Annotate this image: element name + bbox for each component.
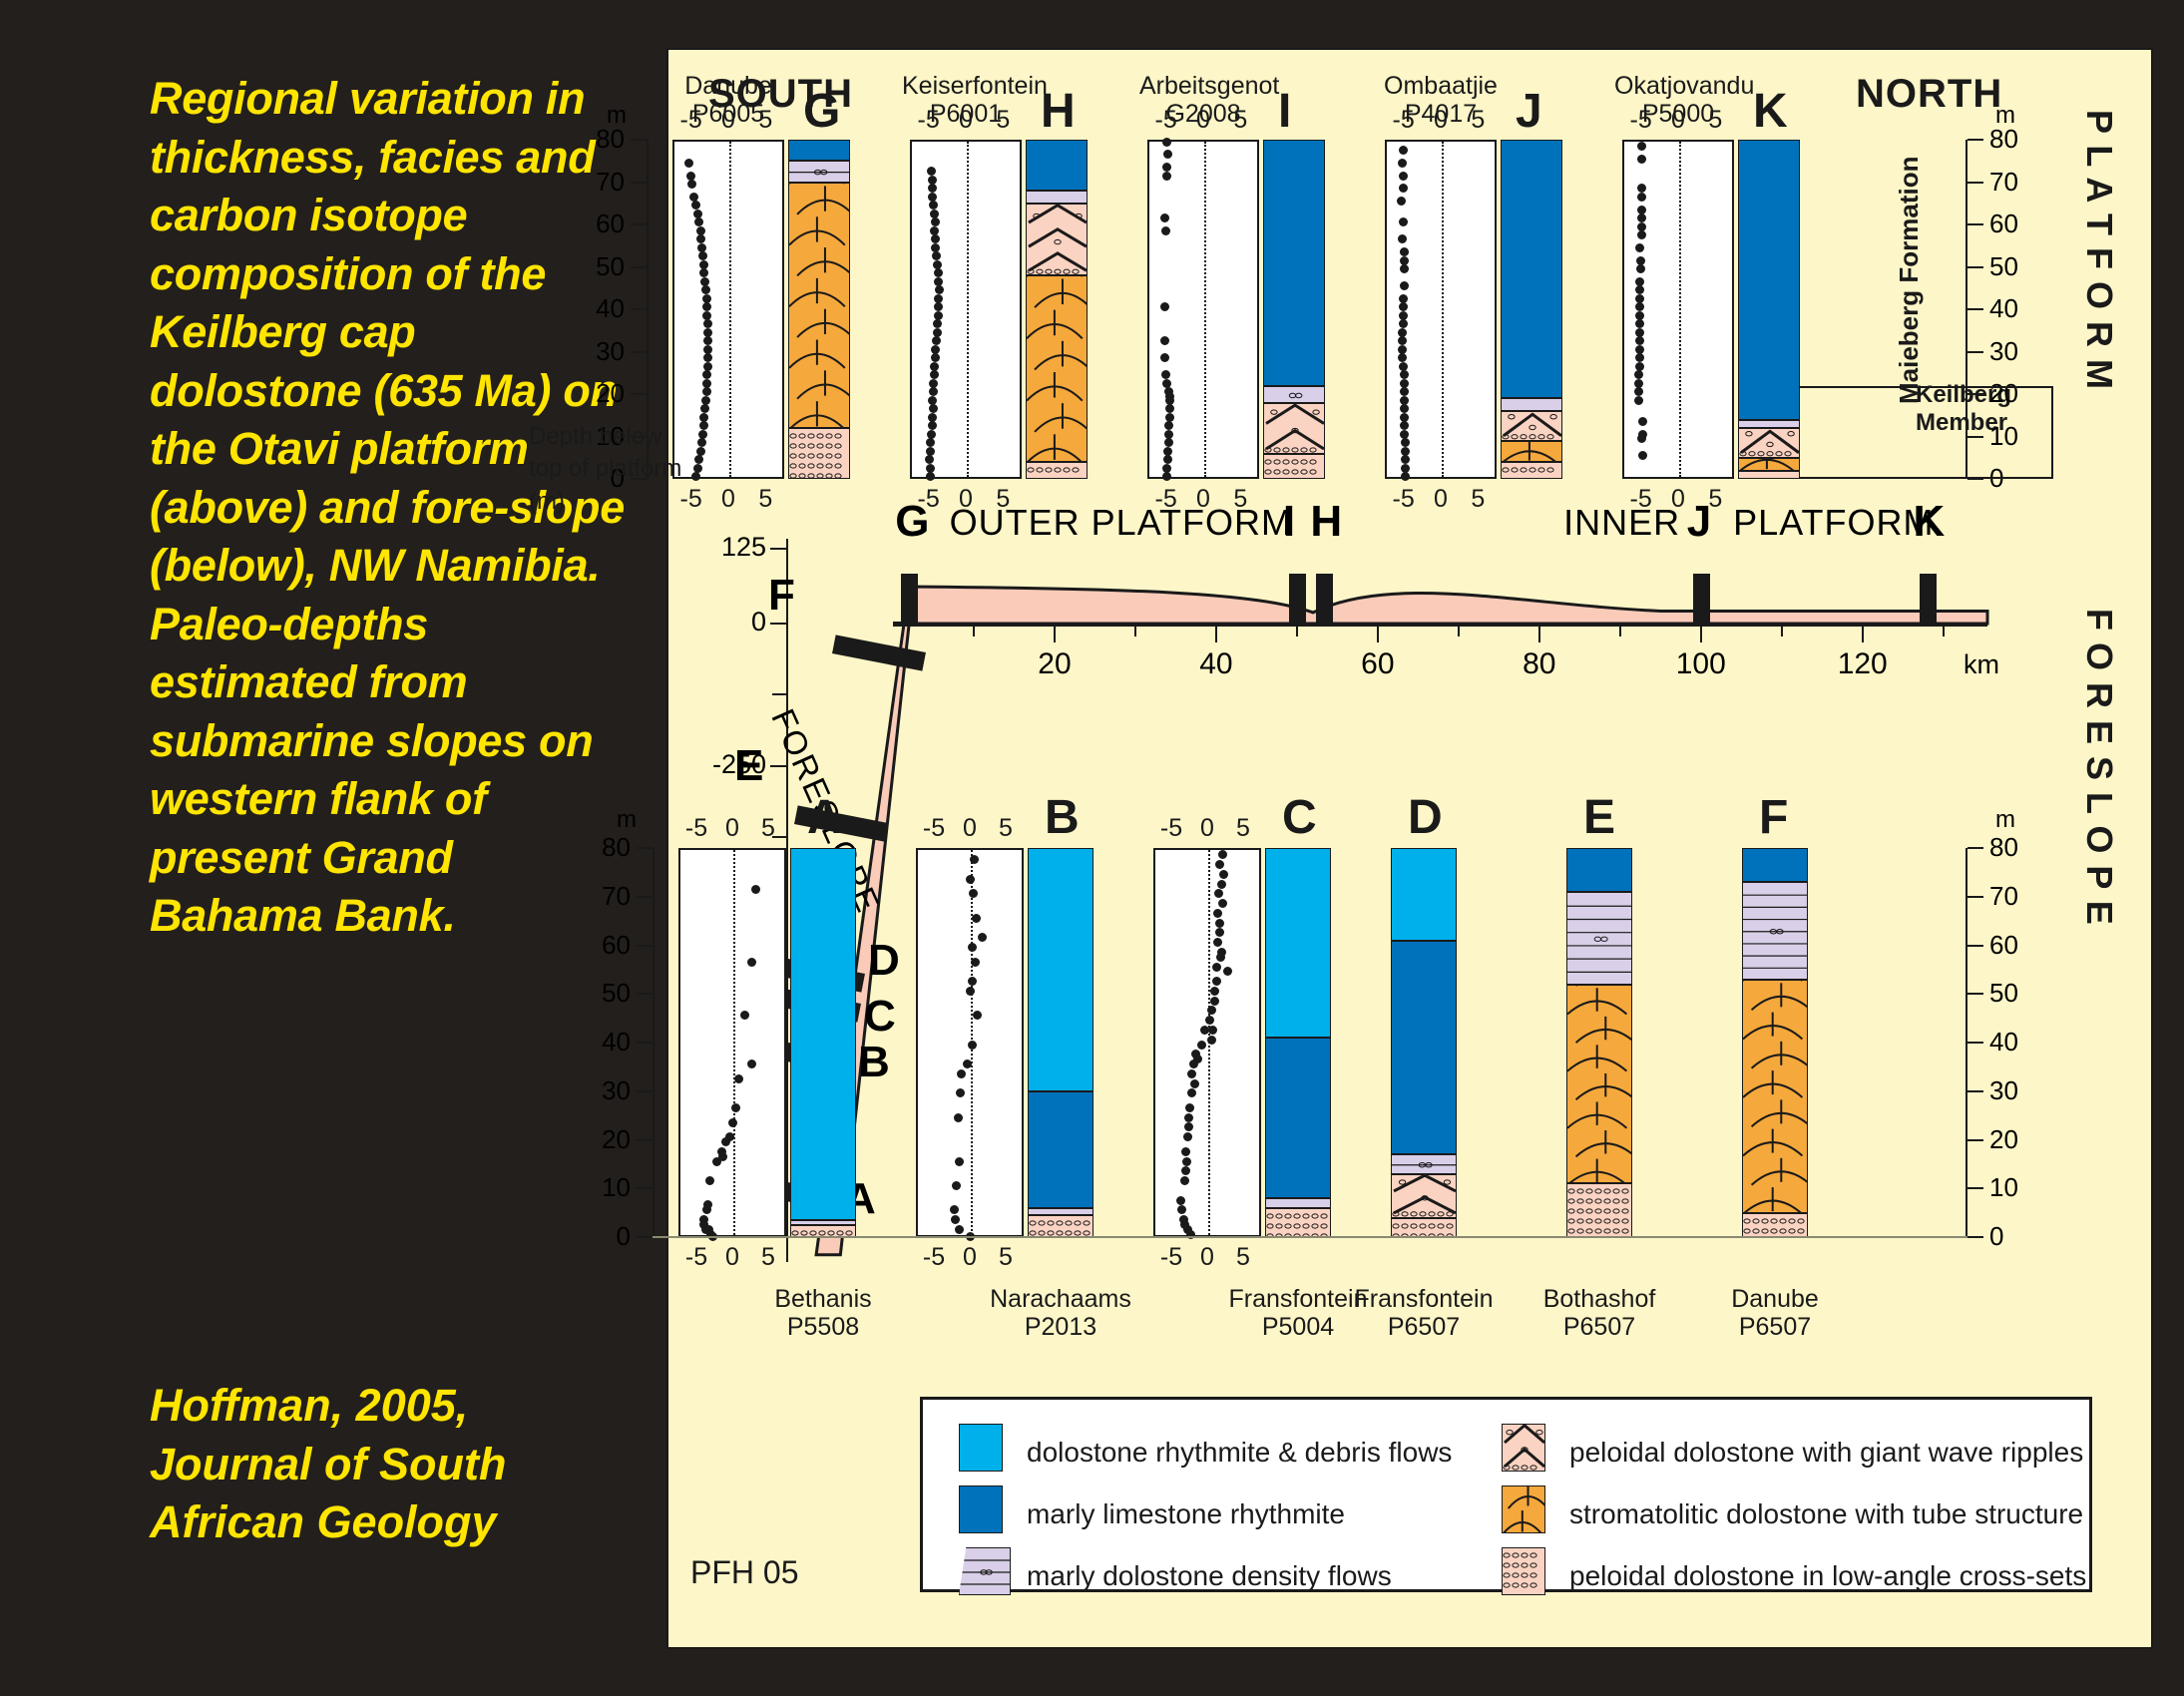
- y-tick-left: [631, 308, 647, 310]
- data-point: [1165, 404, 1174, 413]
- litho-unit-blue: [1391, 941, 1457, 1155]
- facies-pattern-lilac: [789, 162, 850, 182]
- data-point: [1635, 243, 1644, 252]
- data-point: [705, 1176, 714, 1185]
- data-point: [1215, 919, 1224, 928]
- data-point: [1217, 880, 1226, 889]
- data-point: [1399, 172, 1408, 181]
- data-point: [1638, 451, 1647, 460]
- data-point: [928, 184, 937, 193]
- zero-line: [1204, 142, 1206, 477]
- data-point: [934, 302, 943, 311]
- y-tick-left: [631, 351, 647, 353]
- compass-north-label: NORTH: [1856, 72, 2002, 117]
- data-point: [1197, 1041, 1206, 1050]
- litho-unit-lilac: [1026, 191, 1088, 204]
- data-point: [1399, 217, 1408, 226]
- section-letter-I: I: [1278, 84, 1291, 139]
- data-point: [955, 1157, 964, 1166]
- facies-pattern-chev: [1027, 205, 1088, 275]
- data-point: [1400, 421, 1409, 430]
- data-point: [703, 336, 712, 345]
- data-point: [691, 472, 700, 481]
- member-bracket-top: [1800, 386, 2053, 388]
- x-tick-top-5: 5: [1231, 814, 1255, 843]
- data-point: [931, 217, 940, 226]
- data-point: [700, 404, 709, 413]
- x-tick-top-5: 5: [1466, 106, 1490, 135]
- data-point: [684, 159, 693, 168]
- data-point: [1398, 159, 1407, 168]
- data-point: [1208, 1026, 1217, 1035]
- x-tick-bottom-5: 5: [1466, 485, 1490, 514]
- y-tick-left-bottom: [637, 1090, 653, 1092]
- figure-panel: SOUTH NORTH P L A T F O R M F O R E S L …: [666, 48, 2153, 1649]
- litho-unit-lilac: [1738, 420, 1800, 429]
- y-tick-label-bottom-70: 70: [587, 881, 631, 912]
- profile-site-letter-G: G: [895, 497, 929, 547]
- y-tick-label-bottom-10: 10: [587, 1172, 631, 1203]
- y-tick-label-bottom-30: 30: [587, 1075, 631, 1106]
- y-tick-right: [1967, 393, 1983, 395]
- isotope-plot-I: [1147, 140, 1259, 479]
- data-point: [1205, 1016, 1214, 1025]
- facies-pattern-strom: [1743, 981, 1808, 1213]
- data-point: [966, 987, 975, 996]
- data-point: [1213, 938, 1222, 947]
- y-tick-right-bottom: [1967, 1090, 1983, 1092]
- x-tick-bottom-5: 5: [994, 1243, 1018, 1272]
- data-point: [712, 1157, 721, 1166]
- data-point: [1207, 1006, 1216, 1015]
- y-tick-label-right-70: 70: [1989, 167, 2033, 198]
- x-tick-top-0: 0: [1666, 106, 1690, 135]
- data-point: [1400, 370, 1409, 379]
- litho-unit-blue: [788, 140, 850, 161]
- legend-swatch-marly-dolostone-density-flows: [959, 1547, 1011, 1595]
- y-tick-right-bottom: [1967, 993, 1983, 995]
- x-tick-top-0: 0: [716, 106, 740, 135]
- y-tick-right-bottom: [1967, 847, 1983, 849]
- data-point: [1213, 909, 1222, 918]
- isotope-plot-C: [1153, 848, 1261, 1237]
- section-letter-E: E: [1583, 790, 1615, 845]
- metre-unit-right-bottom: m: [1995, 806, 2015, 834]
- y-tick-label-20: 20: [581, 378, 625, 409]
- data-point: [696, 234, 705, 243]
- facies-pattern-pel: [1264, 455, 1325, 480]
- litho-unit-lilac: [1391, 1154, 1457, 1174]
- data-point: [952, 1181, 961, 1190]
- maieberg-formation-label: Maieberg Formation: [1894, 105, 1925, 404]
- y-tick-left-bottom: [637, 1042, 653, 1044]
- data-point: [1177, 1205, 1186, 1214]
- facies-pattern-chev: [1502, 412, 1562, 441]
- data-point: [747, 958, 756, 967]
- facies-pattern-lilac: [1502, 399, 1562, 411]
- y-tick-left-bottom: [637, 896, 653, 898]
- data-point: [973, 1011, 982, 1020]
- y-tick-left: [631, 223, 647, 225]
- data-point: [1399, 184, 1408, 193]
- x-tick-top-5: 5: [991, 106, 1015, 135]
- zero-line: [729, 142, 731, 477]
- facies-pattern-lilac: [1743, 883, 1808, 980]
- data-point: [731, 1103, 740, 1112]
- x-tick-top--5: -5: [679, 106, 703, 135]
- section-id: P6507: [1563, 1313, 1635, 1341]
- litho-unit-pel: [1742, 1213, 1808, 1237]
- data-point: [1637, 155, 1646, 164]
- y-tick-label-bottom-0: 0: [587, 1221, 631, 1252]
- data-point: [955, 1225, 964, 1234]
- data-point: [1218, 899, 1227, 908]
- legend-swatch-marly-limestone-rhythmite: [959, 1485, 1003, 1533]
- section-name-bottom-F: DanubeP6507: [1668, 1285, 1882, 1341]
- x-tick-bottom--5: -5: [922, 1243, 946, 1272]
- data-point: [933, 319, 942, 328]
- y-tick-right-bottom: [1967, 1139, 1983, 1141]
- data-point: [951, 1215, 960, 1224]
- x-tick-bottom--5: -5: [679, 485, 703, 514]
- x-tick-top-0: 0: [1195, 814, 1219, 843]
- x-tick-bottom-0: 0: [958, 1243, 982, 1272]
- litho-unit-chev: [1263, 403, 1325, 454]
- data-point: [966, 875, 975, 884]
- section-id: P5508: [787, 1313, 859, 1341]
- litho-unit-cyan: [1391, 848, 1457, 941]
- data-point: [968, 943, 977, 952]
- zero-line: [733, 850, 735, 1235]
- data-point: [1635, 336, 1644, 345]
- data-point: [1162, 172, 1171, 181]
- y-tick-label-60: 60: [581, 209, 625, 239]
- x-tick-top-0: 0: [720, 814, 744, 843]
- x-tick-bottom-5: 5: [753, 485, 777, 514]
- litho-unit-blue: [1265, 1038, 1331, 1198]
- litho-unit-pel: [1501, 462, 1562, 479]
- data-point: [728, 1118, 737, 1127]
- x-tick-bottom-0: 0: [716, 485, 740, 514]
- facies-pattern-pel: [789, 429, 850, 479]
- y-tick-label-right-bottom-80: 80: [1989, 832, 2033, 863]
- isotope-plot-B: [916, 848, 1024, 1237]
- data-point: [1176, 1196, 1185, 1205]
- platform-label: P L A T F O R M: [2078, 110, 2120, 449]
- facies-pattern-pel: [1392, 1219, 1457, 1238]
- data-point: [1635, 285, 1644, 294]
- section-letter-H: H: [1041, 84, 1076, 139]
- zero-line: [1442, 142, 1444, 477]
- y-tick-label-right-bottom-30: 30: [1989, 1075, 2033, 1106]
- y-axis-left-bottom: [653, 848, 655, 1237]
- section-locality: Keiserfontein: [902, 72, 1048, 100]
- data-point: [702, 387, 711, 396]
- data-point: [1212, 977, 1221, 986]
- legend-label-dolostone-rhythmite: dolostone rhythmite & debris flows: [1027, 1437, 1452, 1469]
- facies-pattern-lilac: [1266, 1199, 1331, 1208]
- profile-site-bar-H: [1316, 574, 1333, 627]
- y-tick-label-right-bottom-10: 10: [1989, 1172, 2033, 1203]
- litho-unit-lilac: [1501, 398, 1562, 411]
- litho-unit-strom: [1738, 458, 1800, 471]
- x-tick-bottom--5: -5: [1159, 1243, 1183, 1272]
- data-point: [1160, 353, 1169, 362]
- plate-id-label: PFH 05: [690, 1554, 798, 1591]
- data-point: [734, 1074, 743, 1083]
- x-tick-top-5: 5: [994, 814, 1018, 843]
- litho-unit-strom: [788, 183, 850, 429]
- litho-unit-cyan: [1028, 848, 1093, 1091]
- data-point: [702, 370, 711, 379]
- data-point: [1400, 387, 1409, 396]
- litho-unit-lilac: [1263, 386, 1325, 403]
- y-tick-left: [631, 139, 647, 141]
- facies-pattern-strom: [789, 184, 850, 429]
- data-point: [1637, 184, 1646, 193]
- data-point: [1400, 404, 1409, 413]
- data-point: [1637, 434, 1646, 443]
- x-tick-top-5: 5: [756, 814, 780, 843]
- profile-site-letter-I: I: [1283, 497, 1295, 547]
- x-tick-top-0: 0: [1429, 106, 1453, 135]
- facies-pattern-strom: [1503, 1486, 1545, 1533]
- data-point: [956, 1088, 965, 1097]
- data-point: [1398, 234, 1407, 243]
- x-tick-top-0: 0: [958, 814, 982, 843]
- section-letter-G: G: [803, 84, 840, 139]
- data-point: [1184, 1113, 1193, 1122]
- data-point: [1638, 417, 1647, 426]
- data-point: [978, 933, 987, 942]
- y-tick-right: [1967, 266, 1983, 268]
- data-point: [1219, 870, 1228, 879]
- y-tick-left-bottom: [637, 1139, 653, 1141]
- data-point: [1634, 387, 1643, 396]
- y-tick-right-bottom: [1967, 945, 1983, 947]
- data-point: [1399, 302, 1408, 311]
- data-point: [972, 914, 981, 923]
- section-letter-A: A: [807, 790, 842, 845]
- x-tick-bottom-0: 0: [1195, 1243, 1219, 1272]
- data-point: [1182, 1157, 1191, 1166]
- data-point: [1210, 987, 1219, 996]
- x-tick-bottom-5: 5: [756, 1243, 780, 1272]
- section-locality: Bothashof: [1543, 1285, 1656, 1313]
- litho-unit-pel: [1391, 1218, 1457, 1238]
- y-tick-label-bottom-40: 40: [587, 1027, 631, 1058]
- x-tick-bottom--5: -5: [1392, 485, 1416, 514]
- section-id: P2013: [1025, 1313, 1096, 1341]
- section-locality: Okatjovandu: [1614, 72, 1754, 100]
- member-bracket-side: [2051, 386, 2053, 480]
- data-point: [931, 234, 940, 243]
- y-tick-left: [631, 182, 647, 184]
- legend-swatch-stromatolitic-tube-structure: [1502, 1485, 1545, 1533]
- facies-pattern-pel: [1739, 472, 1800, 480]
- data-point: [1184, 1122, 1193, 1131]
- data-point: [926, 438, 935, 447]
- data-point: [751, 885, 760, 894]
- facies-pattern-strom: [1027, 276, 1088, 462]
- data-point: [701, 285, 710, 294]
- y-tick-label-right-10: 10: [1989, 421, 2033, 452]
- legend-label-peloidal-low-angle-cross-sets: peloidal dolostone in low-angle cross-se…: [1569, 1560, 2086, 1592]
- litho-unit-strom: [1566, 985, 1632, 1184]
- y-tick-label-right-bottom-60: 60: [1989, 930, 2033, 961]
- litho-unit-pel: [1738, 471, 1800, 480]
- profile-site-letter-J: J: [1687, 497, 1711, 547]
- section-letter-K: K: [1753, 84, 1788, 139]
- section-id: P6507: [1388, 1313, 1460, 1341]
- y-tick-right-bottom: [1967, 1236, 1983, 1238]
- y-tick-right: [1967, 223, 1983, 225]
- y-tick-label-80: 80: [581, 124, 625, 155]
- data-point: [928, 421, 937, 430]
- facies-pattern-chev: [1503, 1425, 1545, 1472]
- facies-legend: dolostone rhythmite & debris flowsmarly …: [920, 1397, 2092, 1592]
- data-point: [1160, 336, 1169, 345]
- section-letter-F: F: [1759, 790, 1788, 845]
- data-point: [968, 1041, 977, 1050]
- section-locality: Danube: [1731, 1285, 1819, 1313]
- foreslope-label-right: F O R E S L O P E: [2078, 609, 2120, 1008]
- facies-pattern-pel: [1743, 1214, 1808, 1237]
- facies-pattern-chev: [1739, 429, 1800, 458]
- litho-unit-blue: [1026, 140, 1088, 191]
- data-point: [1215, 860, 1224, 869]
- data-point: [687, 180, 696, 189]
- data-point: [929, 201, 938, 210]
- data-point: [1212, 963, 1221, 972]
- litho-unit-lilac: [788, 161, 850, 182]
- facies-pattern-chev: [1392, 1175, 1457, 1218]
- data-point: [1637, 193, 1646, 202]
- facies-pattern-pel: [1029, 1216, 1093, 1237]
- x-tick-bottom-0: 0: [720, 1243, 744, 1272]
- litho-unit-lilac: [1028, 1208, 1093, 1215]
- section-id: P6507: [1739, 1313, 1811, 1341]
- data-point: [971, 958, 980, 967]
- data-point: [969, 889, 978, 898]
- litho-unit-pel: [1265, 1208, 1331, 1237]
- data-point: [697, 438, 706, 447]
- y-tick-left-bottom: [637, 847, 653, 849]
- litho-unit-blue: [1738, 140, 1800, 420]
- y-tick-label-right-bottom-70: 70: [1989, 881, 2033, 912]
- data-point: [1636, 264, 1645, 273]
- y-tick-label-50: 50: [581, 251, 625, 282]
- x-tick-top--5: -5: [1629, 106, 1653, 135]
- data-point: [1218, 850, 1227, 859]
- data-point: [929, 387, 938, 396]
- data-point: [1187, 1088, 1196, 1097]
- data-point: [925, 455, 934, 464]
- y-tick-label-right-60: 60: [1989, 209, 2033, 239]
- isotope-plot-A: [678, 848, 786, 1237]
- y-tick-left: [631, 393, 647, 395]
- y-tick-label-right-30: 30: [1989, 336, 2033, 367]
- litho-unit-pel: [1028, 1215, 1093, 1237]
- data-point: [694, 217, 703, 226]
- y-tick-left: [631, 266, 647, 268]
- facies-pattern-pel: [1027, 463, 1088, 479]
- x-tick-top-5: 5: [1703, 106, 1727, 135]
- isotope-plot-J: [1385, 140, 1497, 479]
- y-tick-label-right-bottom-0: 0: [1989, 1221, 2033, 1252]
- y-tick-right-bottom: [1967, 1042, 1983, 1044]
- data-point: [698, 251, 707, 260]
- section-locality: Danube: [684, 72, 772, 100]
- data-point: [699, 268, 708, 277]
- profile-site-letter-H: H: [1310, 497, 1342, 547]
- litho-unit-blue: [1028, 1091, 1093, 1208]
- y-tick-label-bottom-60: 60: [587, 930, 631, 961]
- x-tick-top-5: 5: [753, 106, 777, 135]
- data-point: [1400, 264, 1409, 273]
- profile-site-bar-J: [1693, 574, 1710, 627]
- data-point: [1207, 1036, 1216, 1045]
- data-point: [1161, 226, 1170, 235]
- section-name-bottom-A: BethanisP5508: [716, 1285, 930, 1341]
- litho-unit-pel: [1026, 462, 1088, 479]
- litho-unit-chev: [1501, 411, 1562, 441]
- legend-label-marly-limestone-rhythmite: marly limestone rhythmite: [1027, 1498, 1345, 1530]
- y-tick-label-bottom-20: 20: [587, 1124, 631, 1155]
- litho-unit-strom: [1501, 441, 1562, 462]
- y-tick-right: [1967, 139, 1983, 141]
- data-point: [1210, 997, 1219, 1006]
- y-tick-left-bottom: [637, 1236, 653, 1238]
- litho-unit-pel: [788, 428, 850, 479]
- y-tick-right: [1967, 182, 1983, 184]
- y-tick-label-30: 30: [581, 336, 625, 367]
- data-point: [1397, 197, 1406, 206]
- data-point: [927, 167, 936, 176]
- data-point: [1399, 146, 1408, 155]
- legend-swatch-peloidal-low-angle-cross-sets: [1502, 1547, 1545, 1595]
- data-point: [699, 421, 708, 430]
- metre-unit-left-bottom: m: [617, 806, 637, 834]
- y-tick-label-right-bottom-40: 40: [1989, 1027, 2033, 1058]
- profile-site-bar-K: [1920, 574, 1937, 627]
- data-point: [970, 855, 979, 864]
- data-point: [740, 1011, 749, 1020]
- y-tick-label-right-20: 20: [1989, 378, 2033, 409]
- profile-site-letter-K: K: [1914, 497, 1946, 547]
- data-point: [1223, 967, 1232, 976]
- litho-unit-blue: [1566, 848, 1632, 892]
- y-tick-label-70: 70: [581, 167, 625, 198]
- facies-pattern-lilac: [1567, 893, 1632, 985]
- y-tick-label-right-bottom-50: 50: [1989, 978, 2033, 1009]
- data-point: [1163, 455, 1172, 464]
- zero-line: [1679, 142, 1681, 477]
- litho-unit-chev: [1738, 428, 1800, 458]
- data-point: [934, 268, 943, 277]
- y-tick-left-bottom: [637, 993, 653, 995]
- zone-label-outer-platform: OUTER PLATFORM: [950, 502, 1292, 544]
- y-tick-right-bottom: [1967, 896, 1983, 898]
- x-tick-bottom--5: -5: [684, 1243, 708, 1272]
- data-point: [926, 472, 935, 481]
- data-point: [1163, 150, 1172, 159]
- x-tick-top--5: -5: [684, 814, 708, 843]
- data-point: [932, 251, 941, 260]
- facies-pattern-pel: [1266, 1209, 1331, 1237]
- data-point: [954, 1113, 963, 1122]
- section-letter-J: J: [1516, 84, 1542, 139]
